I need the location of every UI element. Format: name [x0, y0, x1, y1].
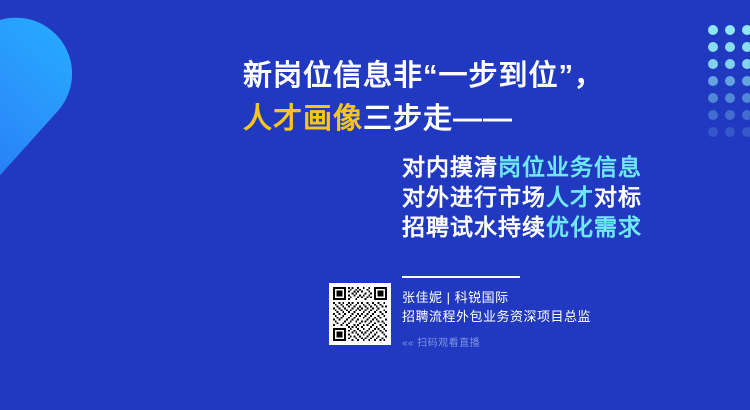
speaker-name: 张佳妮 | 科锐国际 [402, 288, 662, 307]
key-point-accent-text: 人才 [546, 184, 594, 210]
headline: 新岗位信息非“一步到位”， 人才画像三步走—— [243, 55, 663, 141]
headline-line-2: 人才画像三步走—— [243, 98, 663, 141]
decorative-dot [708, 42, 718, 52]
key-point-text: 对标 [594, 184, 642, 210]
decorative-dot [742, 59, 750, 69]
decorative-dot [708, 25, 718, 35]
decorative-dot [725, 59, 735, 69]
diagonal-rounded-bar-shape [0, 0, 95, 389]
speaker-credit: 张佳妮 | 科锐国际 招聘流程外包业务资深项目总监 ««扫码观看直播 [402, 276, 662, 349]
key-point-text: 招聘试水持续 [402, 214, 546, 240]
key-point-line: 对外进行市场人才对标 [402, 182, 642, 212]
decorative-dot [725, 76, 735, 86]
headline-line-1: 新岗位信息非“一步到位”， [243, 55, 663, 98]
key-point-accent-text: 优化需求 [546, 214, 642, 240]
decorative-dot [742, 76, 750, 86]
decorative-dot [725, 42, 735, 52]
key-point-line: 对内摸清岗位业务信息 [402, 152, 642, 182]
key-point-accent-text: 岗位业务信息 [498, 154, 642, 180]
credit-divider [402, 276, 520, 278]
scan-hint-label: 扫码观看直播 [417, 338, 480, 349]
decorative-dot [725, 93, 735, 103]
decorative-dot [725, 127, 735, 137]
decorative-dot [742, 110, 750, 120]
headline-line-2-rest: 三步走—— [363, 103, 513, 135]
decorative-dot [708, 76, 718, 86]
decorative-dot [742, 25, 750, 35]
decorative-dot [725, 110, 735, 120]
decorative-dot [742, 127, 750, 137]
key-point-text: 对内摸清 [402, 154, 498, 180]
decorative-dot [708, 127, 718, 137]
decorative-dot [725, 25, 735, 35]
poster-canvas: 新岗位信息非“一步到位”， 人才画像三步走—— 对内摸清岗位业务信息对外进行市场… [0, 0, 750, 410]
decorative-dot [742, 42, 750, 52]
speaker-title: 招聘流程外包业务资深项目总监 [402, 307, 662, 326]
key-point-line: 招聘试水持续优化需求 [402, 212, 642, 242]
scan-hint: ««扫码观看直播 [402, 334, 662, 349]
decorative-dot [742, 93, 750, 103]
double-chevron-left-icon: «« [402, 338, 414, 349]
key-point-text: 对外进行市场 [402, 184, 546, 210]
decorative-dot [708, 93, 718, 103]
decorative-dot [708, 110, 718, 120]
decorative-dot [708, 59, 718, 69]
headline-accent-text: 人才画像 [243, 103, 363, 135]
key-points-list: 对内摸清岗位业务信息对外进行市场人才对标招聘试水持续优化需求 [402, 152, 642, 242]
dot-grid-decoration [708, 25, 750, 141]
qr-code[interactable] [329, 283, 391, 345]
qr-code-image [333, 287, 387, 341]
